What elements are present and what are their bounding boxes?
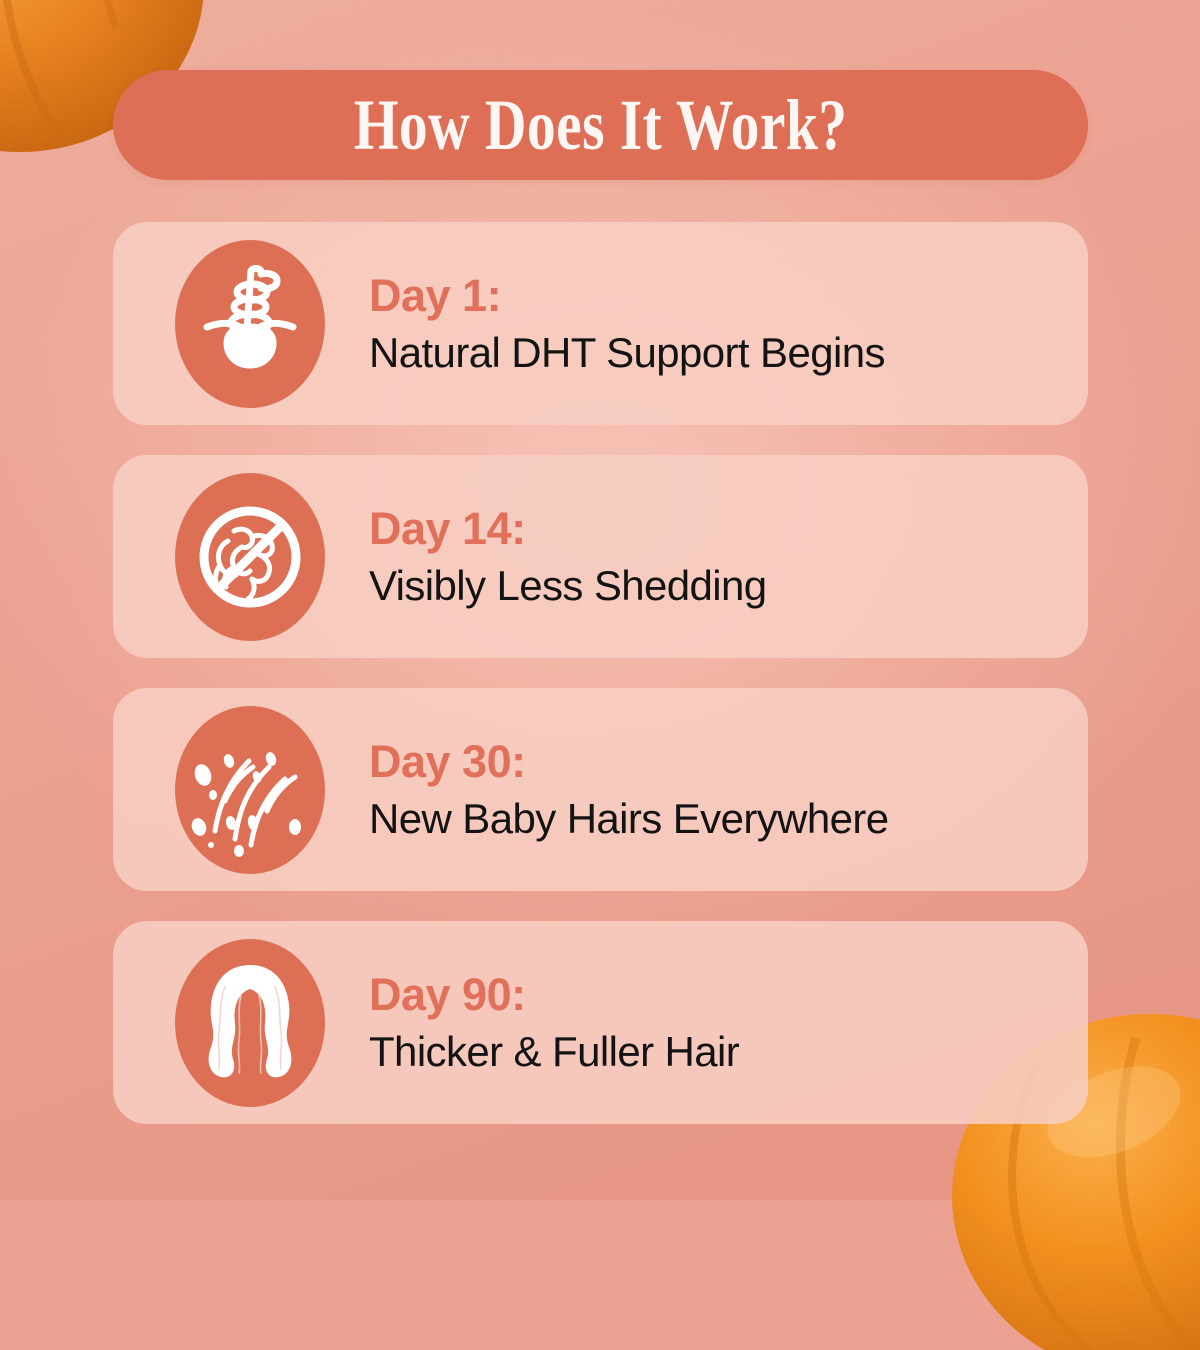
icon-badge	[175, 939, 325, 1107]
card-text: Day 90: Thicker & Fuller Hair	[369, 966, 739, 1079]
card-text: Day 14: Visibly Less Shedding	[369, 500, 767, 613]
timeline-card: Day 90: Thicker & Fuller Hair	[113, 921, 1088, 1124]
day-label: Day 14:	[369, 500, 767, 558]
icon-badge	[175, 240, 325, 408]
card-text: Day 1: Natural DHT Support Begins	[369, 267, 885, 380]
card-text: Day 30: New Baby Hairs Everywhere	[369, 733, 889, 846]
card-description: Thicker & Fuller Hair	[369, 1025, 739, 1079]
card-description: Visibly Less Shedding	[369, 559, 767, 613]
day-label: Day 30:	[369, 733, 889, 791]
timeline-card: Day 14: Visibly Less Shedding	[113, 455, 1088, 658]
long-wavy-hair-icon	[195, 959, 305, 1087]
timeline-card: Day 1: Natural DHT Support Begins	[113, 222, 1088, 425]
icon-badge	[175, 706, 325, 874]
new-hair-growth-icon	[185, 723, 315, 857]
card-description: New Baby Hairs Everywhere	[369, 792, 889, 846]
day-label: Day 1:	[369, 267, 885, 325]
hair-follicle-icon	[195, 265, 305, 383]
day-label: Day 90:	[369, 966, 739, 1024]
page-title: How Does It Work?	[354, 89, 848, 161]
page-title-banner: How Does It Work?	[113, 70, 1088, 180]
icon-badge	[175, 473, 325, 641]
card-description: Natural DHT Support Begins	[369, 326, 885, 380]
no-shedding-icon	[190, 497, 310, 617]
timeline-card: Day 30: New Baby Hairs Everywhere	[113, 688, 1088, 891]
